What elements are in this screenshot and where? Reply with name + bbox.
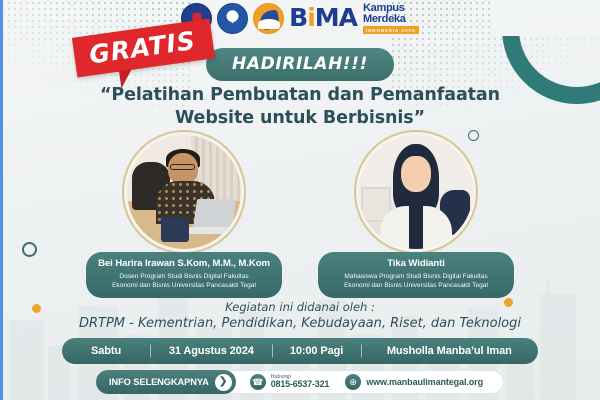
speaker-role-right-line2: Ekonomi dan Bisnis Universitas Pancasakt… — [326, 281, 506, 291]
tut-wuri-handayani-logo-icon — [217, 3, 248, 34]
phone-contact[interactable]: ☎ Hubungi 0815-6537-321 — [250, 374, 329, 390]
page-title: “Pelatihan Pembuatan dan Pemanfaatan Web… — [0, 84, 600, 130]
speaker-photo-bei-harira — [122, 130, 246, 254]
speaker-role-right-line1: Mahasiswa Program Studi Bisnis Digital F… — [326, 272, 506, 282]
speaker-name-left: Bei Harira Irawan S.Kom, M.M., M.Kom — [94, 258, 274, 270]
phone-icon: ☎ — [250, 374, 266, 390]
event-details-bar: Sabtu 31 Agustus 2024 10:00 Pagi Musholl… — [62, 338, 538, 364]
speaker-nameplate-right: Tika Widianti Mahasiswa Program Studi Bi… — [318, 252, 514, 298]
kampus-merdeka-tagline: INDONESIA JAYA — [363, 26, 419, 34]
small-ring-decoration-left — [22, 242, 37, 257]
funding-line-1: Kegiatan ini didanai oleh : — [0, 300, 600, 314]
event-time: 10:00 Pagi — [272, 345, 360, 357]
speaker-role-left: Dosen Program Studi Bisnis Digital Fakul… — [94, 272, 274, 291]
info-selengkapnya-button[interactable]: INFO SELENGKAPNYA ❯ — [96, 370, 236, 394]
logo-row: BiMA Kampus Merdeka INDONESIA JAYA — [0, 3, 600, 34]
gratis-ribbon-tail — [119, 69, 134, 89]
website-url: www.manbaulimantegal.org — [366, 377, 483, 387]
bima-mark-logo-icon — [253, 3, 284, 34]
footer-contact-bar: INFO SELENGKAPNYA ❯ ☎ Hubungi 0815-6537-… — [96, 370, 504, 394]
title-line-1: “Pelatihan Pembuatan dan Pemanfaatan — [0, 84, 600, 107]
speaker-nameplate-left: Bei Harira Irawan S.Kom, M.M., M.Kom Dos… — [86, 252, 282, 298]
call-to-action-pill: HADIRILAH!!! — [206, 48, 394, 81]
bima-letter-b: B — [289, 3, 307, 32]
globe-icon: ⊕ — [345, 374, 361, 390]
speaker-role-left-line2: Ekonomi dan Bisnis Universitas Pancasakt… — [94, 281, 274, 291]
bima-letters-ma: MA — [315, 3, 357, 32]
kampus-merdeka-line2: Merdeka — [363, 14, 419, 25]
kampus-merdeka-logo: Kampus Merdeka INDONESIA JAYA — [363, 3, 419, 34]
bima-wordmark: BiMA — [289, 5, 357, 30]
speaker-photo-tika-widianti — [354, 130, 478, 254]
phone-number: 0815-6537-321 — [271, 380, 329, 389]
event-day: Sabtu — [62, 345, 150, 357]
title-line-2: Website untuk Berbisnis” — [0, 107, 600, 130]
event-venue: Musholla Manba’ul Iman — [361, 345, 538, 357]
funding-line-2: DRTPM - Kementrian, Pendidikan, Kebudaya… — [0, 316, 600, 331]
bima-letter-i: i — [307, 3, 315, 32]
event-date: 31 Agustus 2024 — [150, 345, 272, 357]
website-contact[interactable]: ⊕ www.manbaulimantegal.org — [345, 374, 483, 390]
poster-canvas: BiMA Kampus Merdeka INDONESIA JAYA GRATI… — [0, 0, 600, 400]
speaker-name-right: Tika Widianti — [326, 258, 506, 270]
chevron-right-icon: ❯ — [215, 374, 232, 391]
info-selengkapnya-label: INFO SELENGKAPNYA — [109, 377, 209, 387]
funding-note: Kegiatan ini didanai oleh : DRTPM - Keme… — [0, 300, 600, 331]
speaker-role-left-line1: Dosen Program Studi Bisnis Digital Fakul… — [94, 272, 274, 282]
speaker-role-right: Mahasiswa Program Studi Bisnis Digital F… — [326, 272, 506, 291]
